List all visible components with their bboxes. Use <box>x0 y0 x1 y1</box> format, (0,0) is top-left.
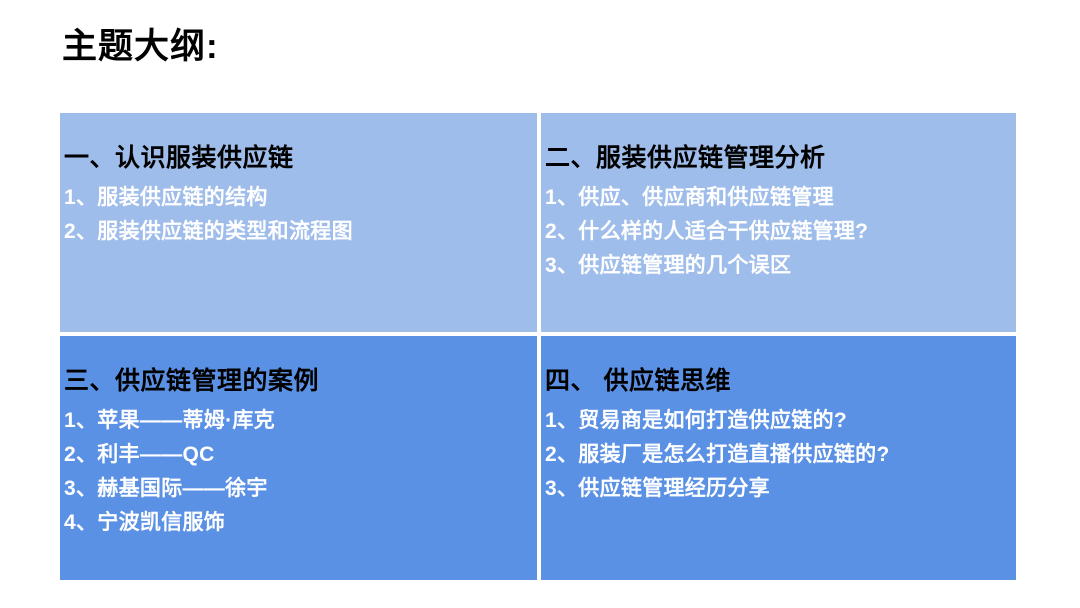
list-item: 1、供应、供应商和供应链管理 <box>545 181 1002 215</box>
list-item: 2、服装厂是怎么打造直播供应链的? <box>545 438 1002 472</box>
quadrant-2-list: 1、供应、供应商和供应链管理 2、什么样的人适合干供应链管理? 3、供应链管理的… <box>545 181 1002 283</box>
page-title: 主题大纲: <box>62 26 219 68</box>
quadrant-2-heading: 二、服装供应链管理分析 <box>545 143 1002 174</box>
outline-quadrant-3[interactable]: 三、供应链管理的案例 1、苹果——蒂姆·库克 2、利丰——QC 3、赫基国际——… <box>60 332 537 580</box>
list-item: 2、服装供应链的类型和流程图 <box>64 215 523 249</box>
outline-quadrant-4[interactable]: 四、 供应链思维 1、贸易商是如何打造供应链的? 2、服装厂是怎么打造直播供应链… <box>537 332 1016 580</box>
quadrant-3-heading: 三、供应链管理的案例 <box>64 366 523 397</box>
list-item: 2、利丰——QC <box>64 438 523 472</box>
outline-quadrant-1[interactable]: 一、认识服装供应链 1、服装供应链的结构 2、服装供应链的类型和流程图 <box>60 113 537 332</box>
list-item: 3、赫基国际——徐宇 <box>64 472 523 506</box>
quadrant-4-heading: 四、 供应链思维 <box>545 366 1002 397</box>
list-item: 1、贸易商是如何打造供应链的? <box>545 404 1002 438</box>
list-item: 1、服装供应链的结构 <box>64 181 523 215</box>
list-item: 4、宁波凯信服饰 <box>64 506 523 540</box>
outline-grid: 一、认识服装供应链 1、服装供应链的结构 2、服装供应链的类型和流程图 二、服装… <box>60 113 1016 580</box>
quadrant-4-list: 1、贸易商是如何打造供应链的? 2、服装厂是怎么打造直播供应链的? 3、供应链管… <box>545 404 1002 506</box>
outline-quadrant-2[interactable]: 二、服装供应链管理分析 1、供应、供应商和供应链管理 2、什么样的人适合干供应链… <box>537 113 1016 332</box>
list-item: 1、苹果——蒂姆·库克 <box>64 404 523 438</box>
list-item: 2、什么样的人适合干供应链管理? <box>545 215 1002 249</box>
quadrant-1-heading: 一、认识服装供应链 <box>64 143 523 174</box>
quadrant-3-list: 1、苹果——蒂姆·库克 2、利丰——QC 3、赫基国际——徐宇 4、宁波凯信服饰 <box>64 404 523 540</box>
quadrant-1-list: 1、服装供应链的结构 2、服装供应链的类型和流程图 <box>64 181 523 249</box>
list-item: 3、供应链管理经历分享 <box>545 472 1002 506</box>
slide-canvas: 主题大纲: 一、认识服装供应链 1、服装供应链的结构 2、服装供应链的类型和流程… <box>0 0 1080 608</box>
list-item: 3、供应链管理的几个误区 <box>545 249 1002 283</box>
